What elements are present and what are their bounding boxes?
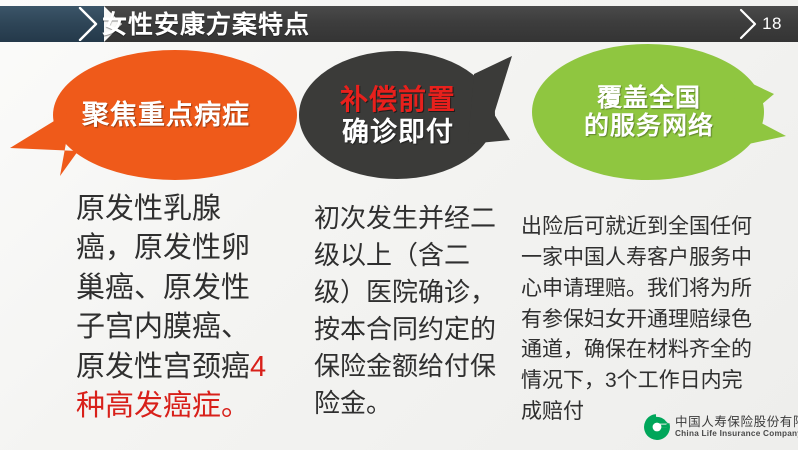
china-life-circle-icon: [644, 414, 670, 440]
header-left-block: [0, 6, 104, 42]
feature-column-1: 原发性乳腺癌，原发性卵巢癌、原发性子宫内膜癌、原发性宫颈癌4种高发癌症。: [76, 190, 272, 427]
logo-name-cn: 中国人寿保险股份有限公司: [675, 415, 798, 429]
callout-bubble-green: 覆盖全国 的服务网络: [530, 42, 792, 182]
china-life-logo: 中国人寿保险股份有限公司 China Life Insurance Compan…: [644, 414, 798, 440]
slide-canvas: 女性安康方案特点 18 聚焦重点病症 补偿前置 确诊即付: [0, 0, 798, 450]
callout-bubble-dark: 补偿前置 确诊即付: [298, 48, 516, 183]
feature-column-3: 出险后可就近到全国任何一家中国人寿客户服务中心申请理赔。我们将为所有参保妇女开通…: [521, 212, 753, 428]
page-number: 18: [762, 14, 782, 34]
slide-header: 女性安康方案特点 18: [0, 6, 798, 42]
page-title: 女性安康方案特点: [102, 8, 310, 42]
feature-column-1-text: 原发性乳腺癌，原发性卵巢癌、原发性子宫内膜癌、原发性宫颈癌: [76, 193, 250, 383]
feature-column-2: 初次发生并经二级以上（含二级）医院确诊，按本合同约定的保险金额给付保险金。: [314, 200, 500, 421]
callout-bubble-orange: 聚焦重点病症: [8, 48, 298, 183]
china-life-logo-text: 中国人寿保险股份有限公司 China Life Insurance Compan…: [675, 415, 798, 439]
logo-name-en: China Life Insurance Company Limited: [675, 429, 798, 439]
